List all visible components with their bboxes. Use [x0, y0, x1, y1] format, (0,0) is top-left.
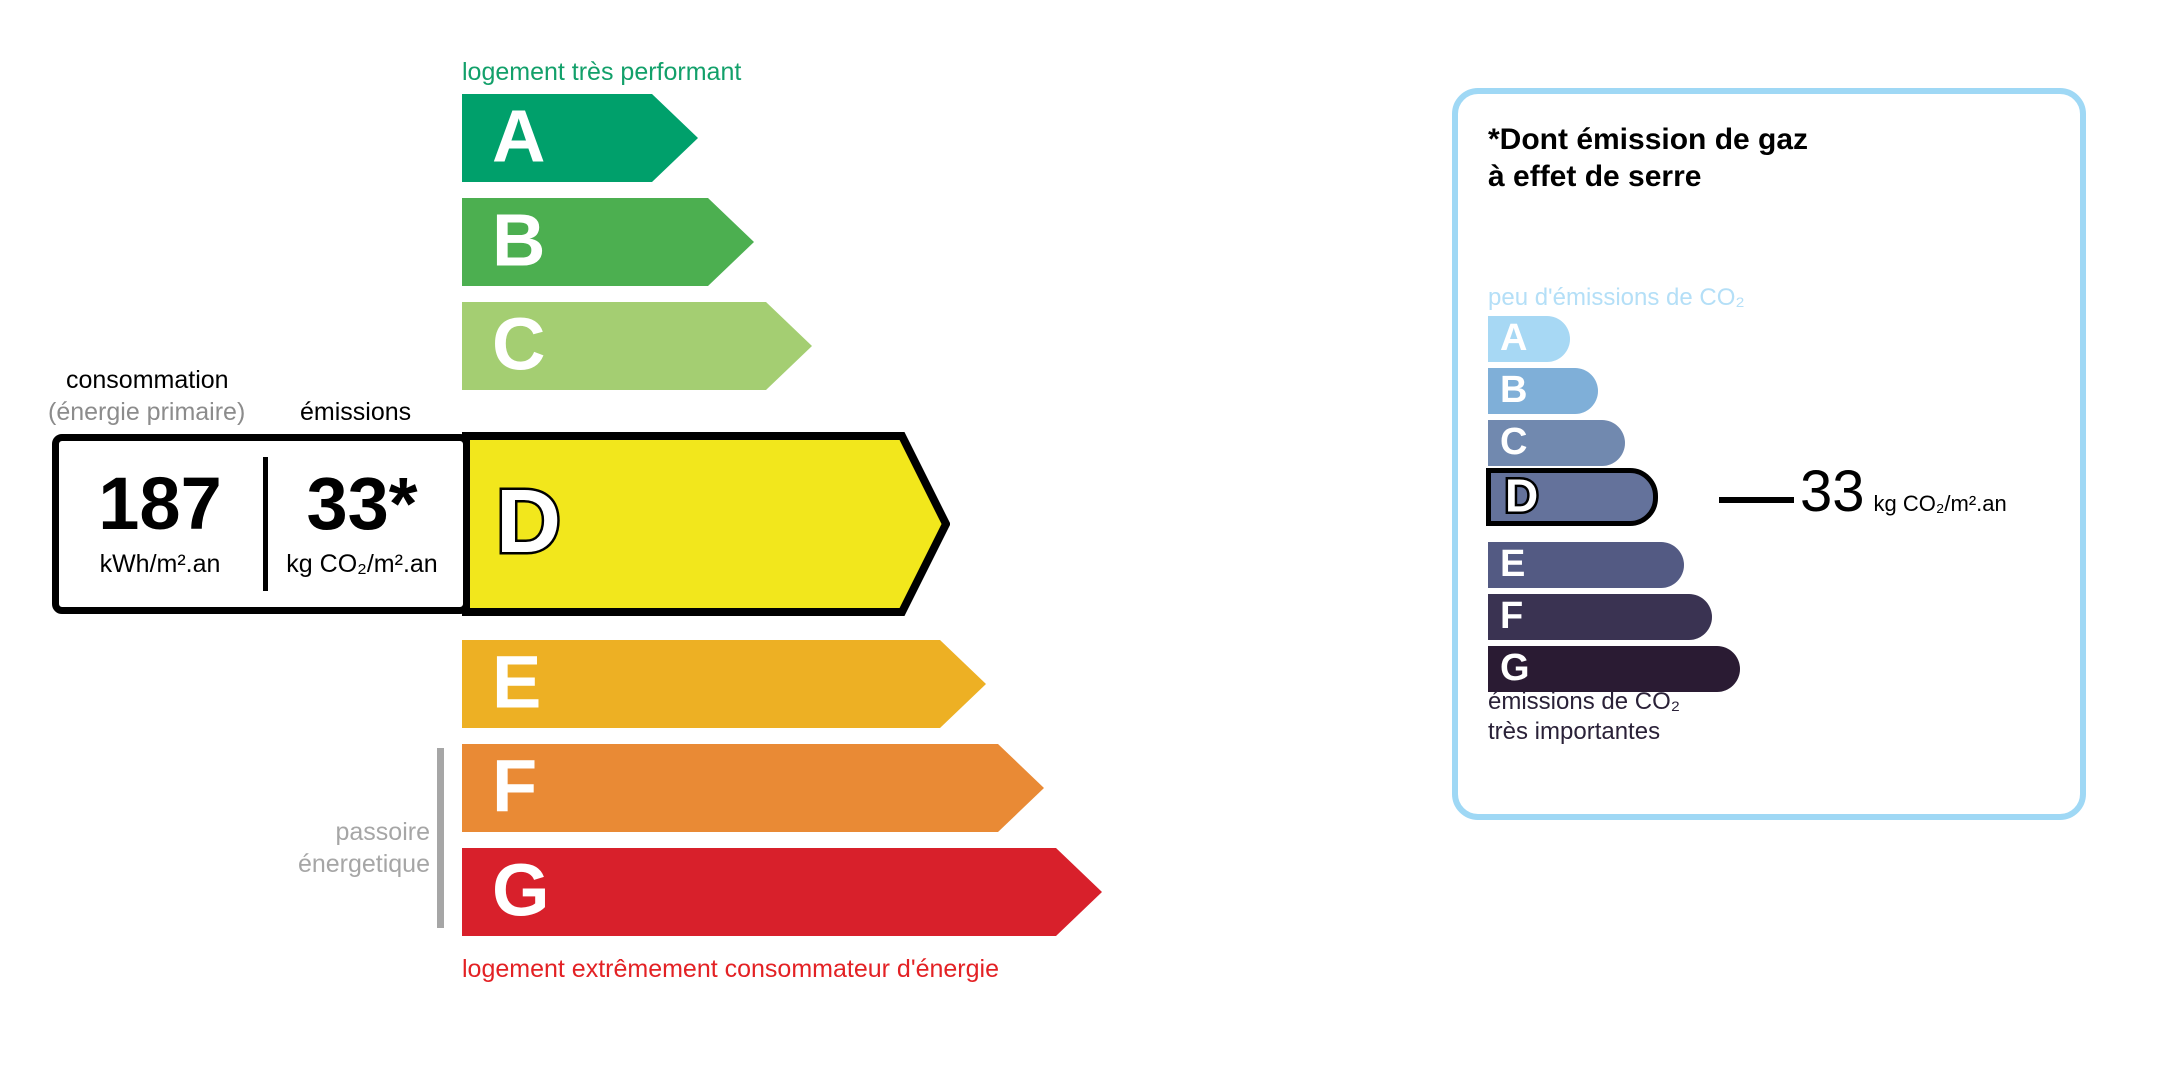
energy-bar-c[interactable]: C	[462, 302, 812, 390]
co2-emissions-panel: *Dont émission de gaz à effet de serre p…	[1452, 88, 2086, 820]
co2-value-annotation: 33 kg CO₂/m².an	[1800, 463, 2007, 521]
co2-bar-f[interactable]: F	[1488, 594, 1712, 640]
energy-bar-d-current[interactable]: D	[462, 432, 950, 616]
energy-bar-e[interactable]: E	[462, 640, 986, 728]
co2-bar-letter-a: A	[1500, 319, 1527, 357]
passoire-label-line1: passoire	[336, 818, 431, 847]
co2-panel-title: *Dont émission de gaz à effet de serre	[1488, 122, 1808, 195]
co2-bar-a[interactable]: A	[1488, 316, 1570, 362]
energy-bar-letter-g: G	[492, 854, 550, 928]
label-consommation: consommation	[66, 366, 229, 395]
passoire-bracket-line	[437, 748, 444, 928]
co2-bar-letter-f: F	[1500, 597, 1523, 635]
energy-bar-letter-a: A	[492, 100, 545, 174]
co2-bar-d-current[interactable]: D	[1486, 468, 1658, 526]
bar-arrow-shape	[462, 744, 1044, 832]
co2-value-number: 33	[1800, 463, 1865, 521]
scale-bottom-caption: logement extrêmement consommateur d'éner…	[462, 955, 999, 984]
scale-top-caption: logement très performant	[462, 58, 741, 87]
co2-bar-b[interactable]: B	[1488, 368, 1598, 414]
emission-value-cell: 33* kg CO₂/m².an	[261, 441, 463, 607]
energy-bar-letter-d: D	[496, 477, 561, 567]
co2-bar-letter-g: G	[1500, 649, 1530, 687]
co2-bar-letter-b: B	[1500, 371, 1527, 409]
co2-bar-c[interactable]: C	[1488, 420, 1625, 466]
label-emissions: émissions	[300, 398, 411, 427]
co2-bar-letter-d: D	[1505, 473, 1538, 519]
bar-arrow-shape	[462, 848, 1102, 936]
co2-bottom-label: émissions de CO₂ très importantes	[1488, 687, 1680, 747]
label-energie-primaire: (énergie primaire)	[48, 398, 245, 427]
value-readout-box: 187 kWh/m².an 33* kg CO₂/m².an	[52, 434, 470, 614]
co2-bar-g[interactable]: G	[1488, 646, 1740, 692]
energy-bar-f[interactable]: F	[462, 744, 1044, 832]
passoire-label-line2: énergetique	[298, 850, 430, 879]
co2-leader-line	[1719, 497, 1794, 503]
energy-bar-a[interactable]: A	[462, 94, 698, 182]
energy-bar-letter-b: B	[492, 204, 545, 278]
energy-bar-letter-c: C	[492, 308, 545, 382]
energy-bar-letter-e: E	[492, 646, 541, 720]
consumption-value: 187	[98, 469, 221, 539]
energy-bar-g[interactable]: G	[462, 848, 1102, 936]
energy-bar-letter-f: F	[492, 750, 537, 824]
co2-bar-letter-e: E	[1500, 545, 1525, 583]
consumption-value-cell: 187 kWh/m².an	[59, 441, 261, 607]
co2-value-unit: kg CO₂/m².an	[1874, 491, 2007, 517]
consumption-unit: kWh/m².an	[100, 550, 221, 579]
co2-top-label: peu d'émissions de CO₂	[1488, 284, 1745, 312]
emission-unit: kg CO₂/m².an	[286, 550, 437, 579]
emission-value: 33*	[306, 469, 417, 539]
energy-bar-b[interactable]: B	[462, 198, 754, 286]
co2-bar-e[interactable]: E	[1488, 542, 1684, 588]
energy-performance-scale: logement très performant A B C D E	[0, 0, 1400, 1079]
co2-bar-letter-c: C	[1500, 423, 1527, 461]
